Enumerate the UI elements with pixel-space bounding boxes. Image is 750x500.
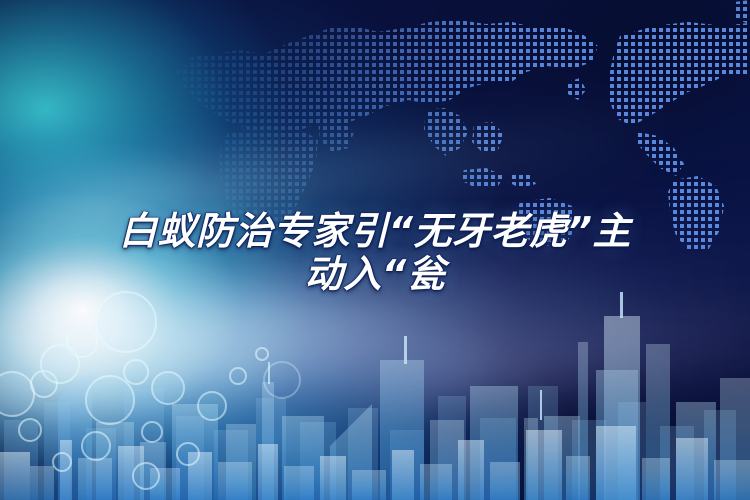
headline-line-1: 白蚁防治专家引“无牙老虎”主	[48, 210, 702, 253]
headline-line-2: 动入“瓮	[48, 253, 702, 296]
news-banner-image: 白蚁防治专家引“无牙老虎”主 动入“瓮	[0, 0, 750, 500]
bokeh-bubbles-graphic	[0, 280, 480, 500]
headline-title: 白蚁防治专家引“无牙老虎”主 动入“瓮	[0, 210, 750, 296]
